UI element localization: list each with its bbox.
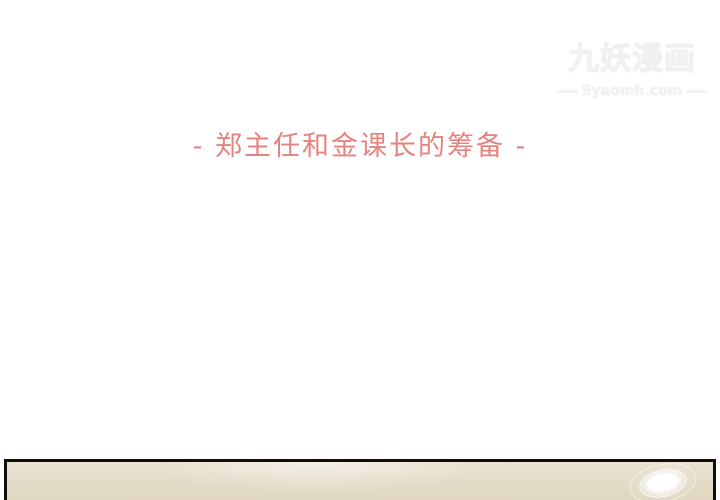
ceiling-light-bulb — [646, 471, 681, 494]
comic-scene-panel — [4, 459, 716, 500]
ceiling-light-icon — [603, 459, 716, 500]
watermark-url-row: 9yaomh.com — [552, 83, 712, 99]
comic-page: 九妖漫画 9yaomh.com - 郑主任和金课长的筹备 - — [0, 0, 720, 500]
ceiling-light-outer-ring — [626, 459, 700, 500]
watermark-url-text: 9yaomh.com — [582, 83, 682, 99]
ceiling-light-inner-ring — [637, 465, 690, 500]
chapter-title: - 郑主任和金课长的筹备 - — [0, 124, 720, 163]
watermark-rule-right-icon — [686, 90, 708, 93]
watermark-rule-left-icon — [556, 90, 578, 93]
watermark-brand-text: 九妖漫画 — [552, 40, 712, 78]
site-watermark: 九妖漫画 9yaomh.com — [552, 40, 712, 110]
ceiling-sheen — [7, 462, 713, 500]
